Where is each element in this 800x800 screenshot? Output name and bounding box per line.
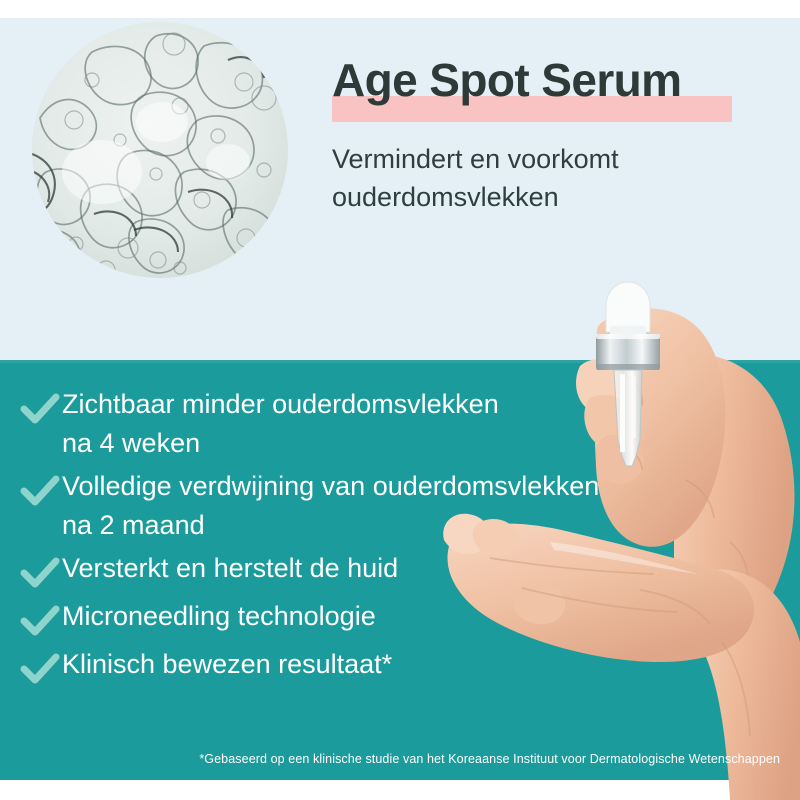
list-item: Microneedling technologie (18, 597, 718, 641)
headline-block: Age Spot Serum (332, 52, 752, 110)
check-icon (18, 649, 62, 689)
benefit-text: Zichtbaar minder ouderdomsvlekken na 4 w… (62, 385, 718, 463)
list-item: Klinisch bewezen resultaat* (18, 645, 718, 689)
check-icon (18, 471, 62, 511)
top-white-strip (0, 0, 800, 18)
benefit-text: Microneedling technologie (62, 597, 718, 636)
check-icon (18, 601, 62, 641)
check-icon (18, 389, 62, 429)
benefit-text: Klinisch bewezen resultaat* (62, 645, 718, 684)
benefit-text: Volledige verdwijning van ouderdomsvlekk… (62, 467, 718, 545)
page-subtitle: Vermindert en voorkomt ouderdomsvlekken (332, 140, 752, 217)
footnote-text: *Gebaseerd op een klinische studie van h… (0, 752, 790, 766)
serum-bubbles-macro-circle (32, 22, 288, 278)
list-item: Zichtbaar minder ouderdomsvlekken na 4 w… (18, 385, 718, 463)
bottom-white-strip (0, 780, 800, 800)
page-title: Age Spot Serum (332, 52, 752, 110)
benefit-text: Versterkt en herstelt de huid (62, 549, 718, 588)
list-item: Volledige verdwijning van ouderdomsvlekk… (18, 467, 718, 545)
check-icon (18, 553, 62, 593)
teal-top-edge (0, 360, 800, 363)
benefits-list: Zichtbaar minder ouderdomsvlekken na 4 w… (18, 385, 718, 693)
product-infographic-poster: Age Spot Serum Vermindert en voorkomt ou… (0, 0, 800, 800)
list-item: Versterkt en herstelt de huid (18, 549, 718, 593)
